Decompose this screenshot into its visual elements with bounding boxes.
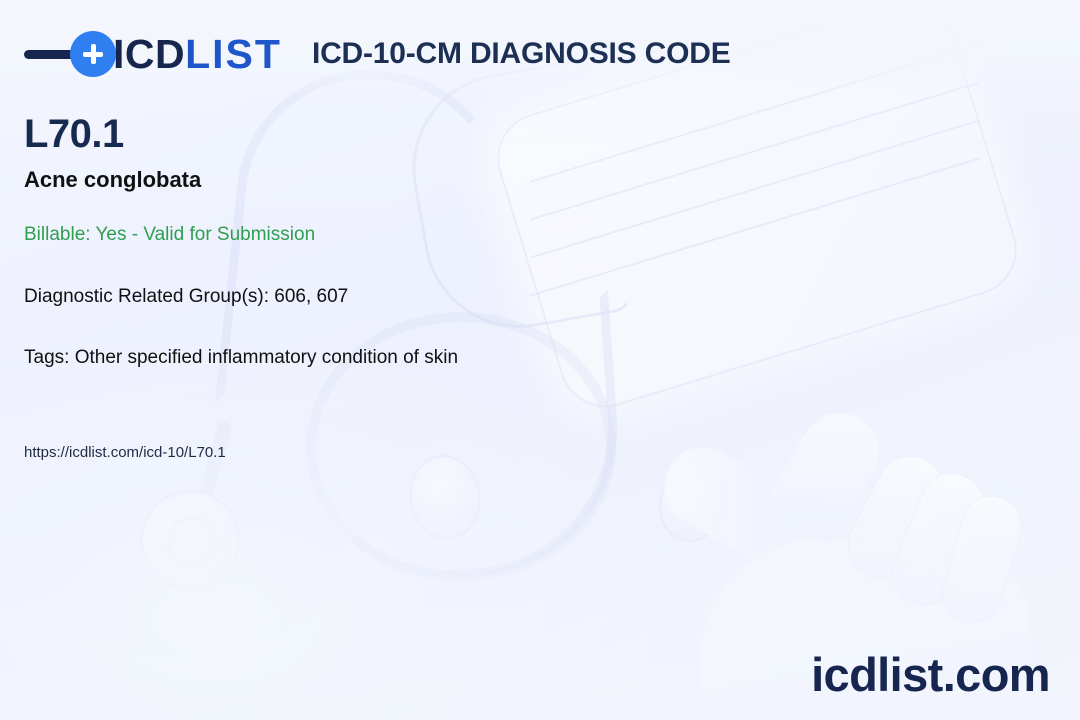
diagnostic-related-groups: Diagnostic Related Group(s): 606, 607 — [24, 286, 348, 309]
icd-code-card: ICDLIST ICD-10-CM DIAGNOSIS CODE L70.1 A… — [0, 0, 1080, 720]
logo-word-list: LIST — [185, 31, 282, 77]
logo-word-icd: ICD — [113, 31, 185, 77]
tags-line: Tags: Other specified inflammatory condi… — [24, 347, 458, 370]
plus-circle-icon — [70, 31, 116, 77]
billable-status: Billable: Yes - Valid for Submission — [24, 224, 315, 247]
brand-footer: icdlist.com — [811, 651, 1050, 698]
card-content: ICDLIST ICD-10-CM DIAGNOSIS CODE L70.1 A… — [0, 0, 1080, 720]
diagnosis-description: Acne conglobata — [24, 167, 201, 193]
card-header: ICDLIST ICD-10-CM DIAGNOSIS CODE — [24, 28, 731, 80]
source-url[interactable]: https://icdlist.com/icd-10/L70.1 — [24, 444, 226, 462]
icdlist-logo[interactable]: ICDLIST — [24, 28, 282, 80]
page-title: ICD-10-CM DIAGNOSIS CODE — [312, 37, 731, 71]
logo-wordmark: ICDLIST — [113, 34, 282, 75]
diagnosis-code: L70.1 — [24, 114, 124, 154]
